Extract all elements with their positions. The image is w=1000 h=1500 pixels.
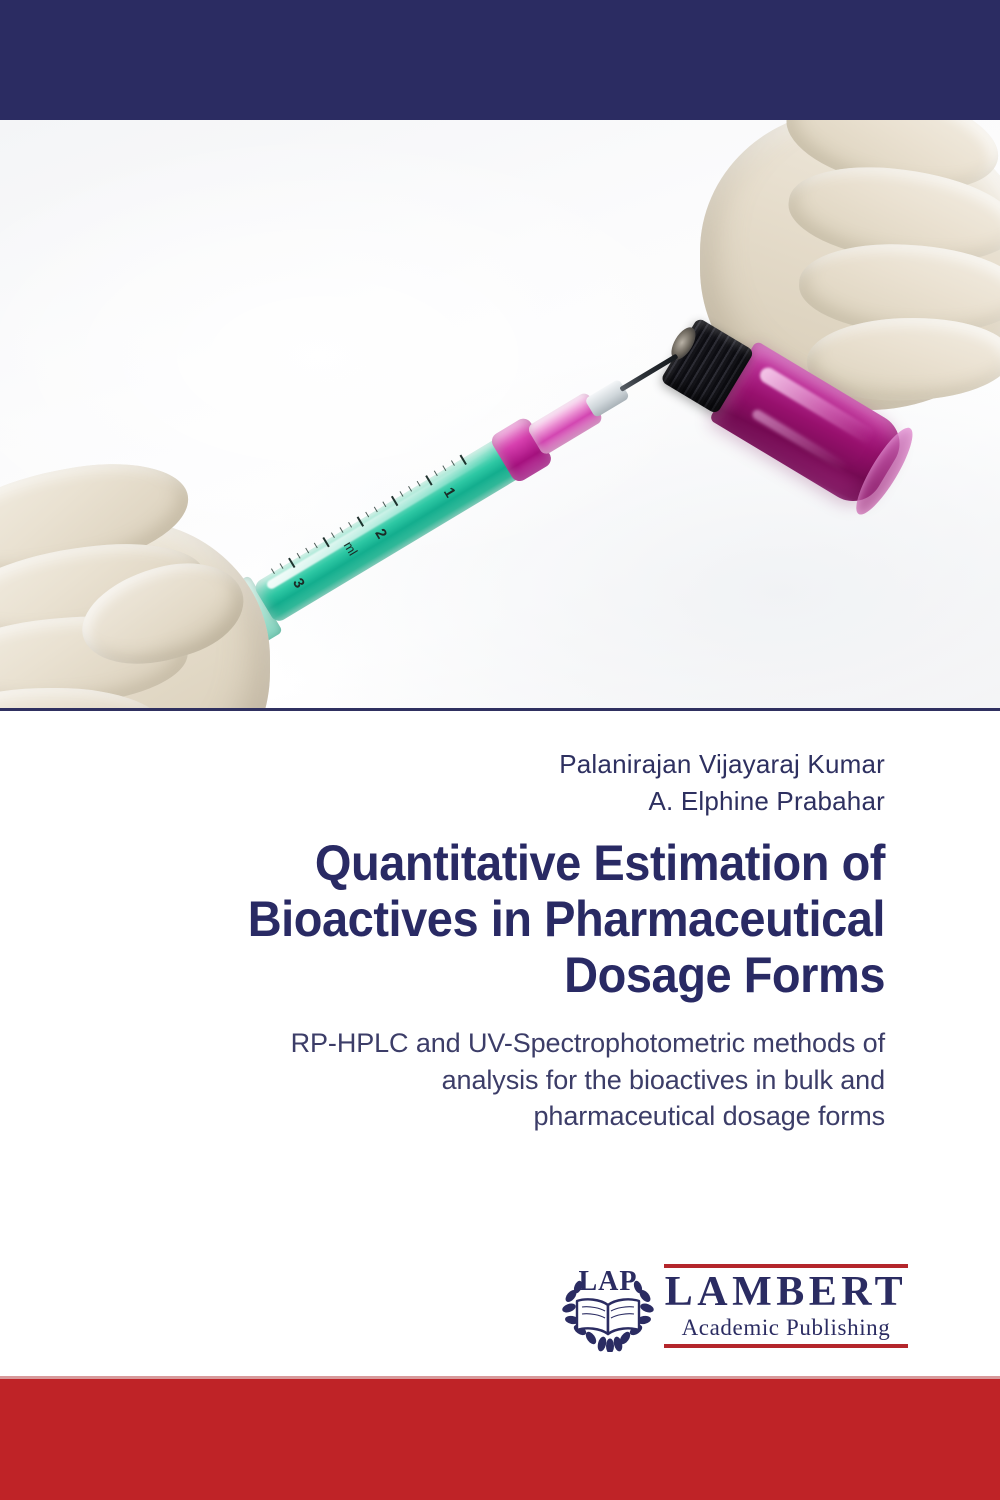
publisher-wordmark: LAMBERT Academic Publishing — [664, 1264, 910, 1348]
author-name-2: A. Elphine Prabahar — [105, 783, 885, 820]
bottom-red-band — [0, 1379, 1000, 1500]
book-subtitle: RP-HPLC and UV-Spectrophotometric method… — [125, 1025, 885, 1135]
publisher-tagline: Academic Publishing — [664, 1315, 908, 1340]
title-line-2: Bioactives in Pharmaceutical — [142, 891, 885, 947]
author-name-1: Palanirajan Vijayaraj Kumar — [105, 746, 885, 783]
publisher-name: LAMBERT — [664, 1271, 908, 1314]
book-title: Quantitative Estimation of Bioactives in… — [142, 835, 885, 1003]
subtitle-line-2: analysis for the bioactives in bulk and — [125, 1062, 885, 1099]
publisher-logo: LAP LAMBERT Academic Publishing — [560, 1258, 910, 1358]
gloved-hand-left — [0, 450, 330, 710]
title-line-3: Dosage Forms — [142, 947, 885, 1003]
logo-rule-top — [664, 1264, 908, 1268]
lap-emblem-icon: LAP — [560, 1260, 656, 1352]
needle — [619, 354, 678, 392]
logo-rule-bottom — [664, 1344, 908, 1348]
svg-text:LAP: LAP — [579, 1266, 638, 1297]
cover-photo: 3 ml 2 1 — [0, 120, 1000, 710]
top-navy-band — [0, 0, 1000, 120]
cover-text-area: Palanirajan Vijayaraj Kumar A. Elphine P… — [0, 710, 1000, 1250]
subtitle-line-3: pharmaceutical dosage forms — [125, 1098, 885, 1135]
title-line-1: Quantitative Estimation of — [142, 835, 885, 891]
author-names: Palanirajan Vijayaraj Kumar A. Elphine P… — [105, 746, 885, 820]
subtitle-line-1: RP-HPLC and UV-Spectrophotometric method… — [125, 1025, 885, 1062]
book-cover: 3 ml 2 1 Palanirajan Vijayaraj Kumar A. … — [0, 0, 1000, 1500]
